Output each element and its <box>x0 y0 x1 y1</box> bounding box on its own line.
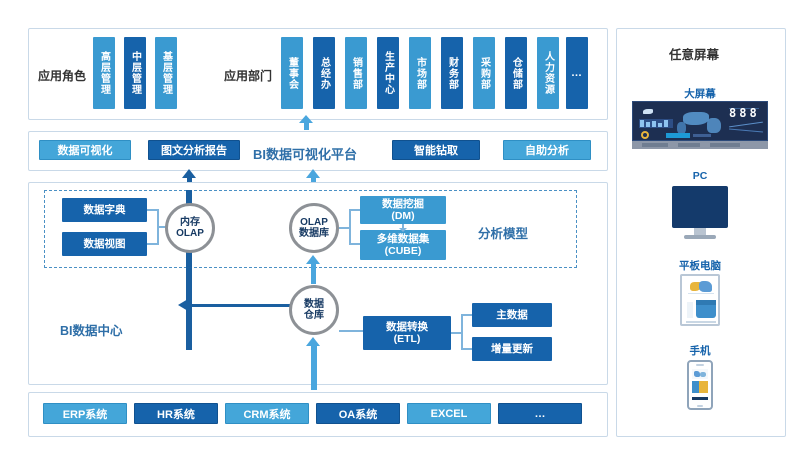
arrow-warehouse-to-backbone <box>178 299 188 311</box>
device-label-tablet: 平板电脑 <box>660 258 740 273</box>
departments-label: 应用部门 <box>224 67 272 84</box>
device-label-pc: PC <box>660 170 740 182</box>
memory-olap-line1: 内存 <box>180 217 200 228</box>
department-chip-3[interactable]: 销售部 <box>345 37 367 109</box>
node-memory-olap[interactable]: 内存 OLAP <box>165 203 215 253</box>
phone-icon <box>687 360 713 410</box>
department-chip-7[interactable]: 采购部 <box>473 37 495 109</box>
diagram-canvas: 应用角色 高层管理 中层管理 基层管理 应用部门 董事会 总经办 销售部 生产中… <box>0 0 812 463</box>
connector-warehouse-to-backbone <box>192 304 290 307</box>
olap-db-line2: 数据库 <box>299 228 329 239</box>
connector-warehouse-to-olapdb <box>311 262 316 284</box>
department-chip-9[interactable]: 人力资源 <box>537 37 559 109</box>
monitor-foot <box>684 235 716 239</box>
arrow-memory-olap-to-platform <box>182 169 196 178</box>
platform-feature-report[interactable]: 图文分析报告 <box>148 140 240 160</box>
large-screen-icon: 888 <box>632 101 768 141</box>
role-chip-1[interactable]: 高层管理 <box>93 37 115 109</box>
device-label-phone: 手机 <box>660 343 740 358</box>
source-system-hr[interactable]: HR系统 <box>134 403 218 424</box>
source-system-excel[interactable]: EXCEL <box>407 403 491 424</box>
etl-line1: 数据转换 <box>386 321 428 333</box>
node-data-warehouse[interactable]: 数据 仓库 <box>289 285 339 335</box>
department-chip-more[interactable]: … <box>566 37 588 109</box>
screens-panel-title: 任意屏幕 <box>669 44 719 63</box>
department-chip-2[interactable]: 总经办 <box>313 37 335 109</box>
source-system-erp[interactable]: ERP系统 <box>43 403 127 424</box>
model-box-incremental-update[interactable]: 增量更新 <box>472 337 552 361</box>
data-mining-line2: (DM) <box>391 210 414 222</box>
cube-line1: 多维数据集 <box>377 233 430 245</box>
arrow-sources-to-warehouse <box>306 337 320 346</box>
source-system-oa[interactable]: OA系统 <box>316 403 400 424</box>
device-label-large-screen: 大屏幕 <box>660 86 740 101</box>
model-box-cube[interactable]: 多维数据集 (CUBE) <box>360 230 446 260</box>
large-screen-digits: 888 <box>729 106 760 120</box>
model-box-data-mining[interactable]: 数据挖掘 (DM) <box>360 196 446 224</box>
etl-line2: (ETL) <box>394 333 421 345</box>
connector-right-bracket-spine <box>349 209 351 245</box>
model-box-etl[interactable]: 数据转换 (ETL) <box>363 316 451 350</box>
cube-line2: (CUBE) <box>385 245 422 257</box>
source-system-more[interactable]: … <box>498 403 582 424</box>
department-chip-1[interactable]: 董事会 <box>281 37 303 109</box>
connector-sources-to-warehouse <box>311 344 317 390</box>
arrow-warehouse-to-olapdb <box>306 255 320 264</box>
model-box-data-dictionary[interactable]: 数据字典 <box>62 198 147 222</box>
connector-etl-bracket-spine <box>461 314 463 350</box>
role-chip-2[interactable]: 中层管理 <box>124 37 146 109</box>
monitor-stand <box>694 228 706 235</box>
node-olap-database[interactable]: OLAP 数据库 <box>289 203 339 253</box>
arrow-olap-db-to-platform <box>306 169 320 178</box>
platform-title: BI数据可视化平台 <box>253 144 357 163</box>
department-chip-5[interactable]: 市场部 <box>409 37 431 109</box>
large-screen-base <box>632 141 768 149</box>
tablet-icon <box>680 274 720 326</box>
arrow-platform-to-application <box>299 115 313 123</box>
department-chip-8[interactable]: 仓储部 <box>505 37 527 109</box>
role-chip-3[interactable]: 基层管理 <box>155 37 177 109</box>
data-mining-line1: 数据挖掘 <box>382 198 424 210</box>
olap-db-line1: OLAP <box>300 217 328 228</box>
arrow-dm-to-cube <box>399 228 407 232</box>
platform-feature-data-visualization[interactable]: 数据可视化 <box>39 140 131 160</box>
connector-etl-to-warehouse <box>339 330 364 332</box>
roles-label: 应用角色 <box>38 67 86 84</box>
analysis-model-label: 分析模型 <box>478 223 528 242</box>
desktop-monitor-icon <box>672 186 728 228</box>
platform-feature-smart-drill[interactable]: 智能钻取 <box>392 140 480 160</box>
model-box-master-data[interactable]: 主数据 <box>472 303 552 327</box>
source-system-crm[interactable]: CRM系统 <box>225 403 309 424</box>
model-box-data-view[interactable]: 数据视图 <box>62 232 147 256</box>
department-chip-6[interactable]: 财务部 <box>441 37 463 109</box>
bi-data-center-label: BI数据中心 <box>60 320 123 339</box>
warehouse-line2: 仓库 <box>304 310 324 321</box>
department-chip-4[interactable]: 生产中心 <box>377 37 399 109</box>
memory-olap-line2: OLAP <box>176 228 204 239</box>
platform-feature-self-analysis[interactable]: 自助分析 <box>503 140 591 160</box>
warehouse-line1: 数据 <box>304 299 324 310</box>
